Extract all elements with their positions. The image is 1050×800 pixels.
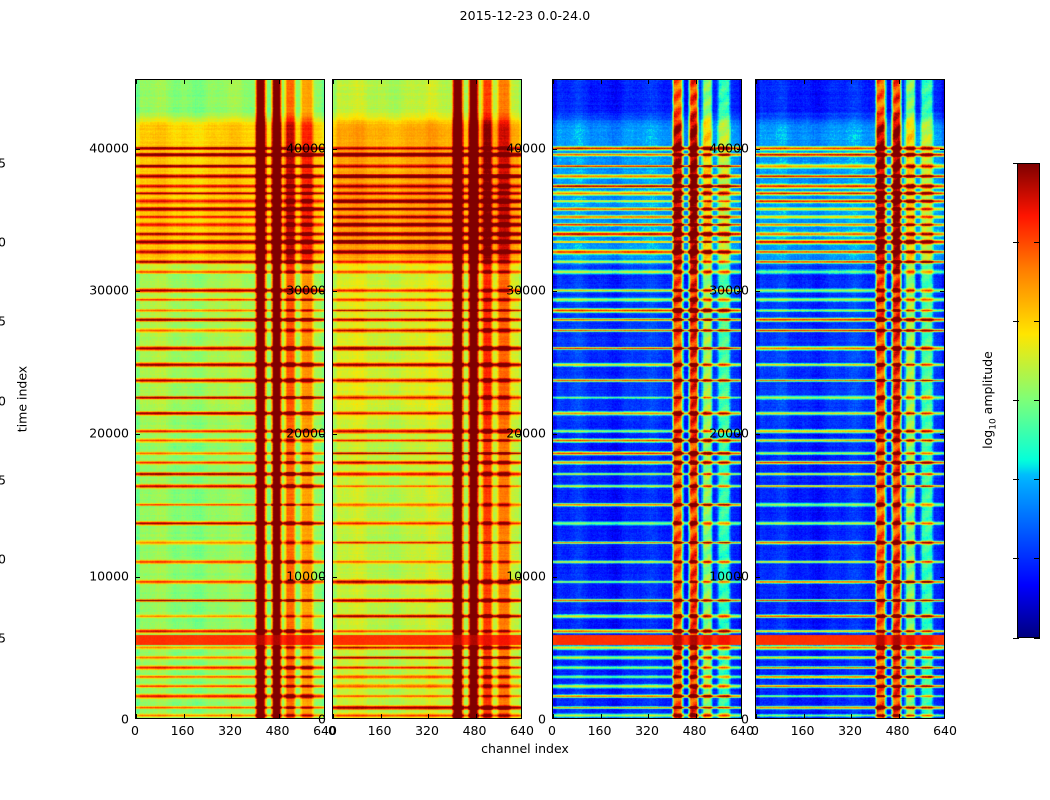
x-axis-tick-label: 480 [886,723,910,738]
y-axis-tick [333,434,337,435]
x-axis-tick-label: 320 [635,723,659,738]
waterfall-panel-xx[interactable]: XX, ant V8 [135,79,325,719]
y-axis-tick-label: 10000 [693,569,749,584]
x-axis-tick [231,80,232,84]
y-axis-tick [553,577,557,578]
x-axis-tick [279,80,280,84]
x-axis-tick [851,714,852,718]
x-axis-tick [476,714,477,718]
heatmap-image [136,80,325,719]
y-axis-tick-label: 10000 [73,569,129,584]
y-axis-tick-label: 0 [693,712,749,727]
colorbar-tick-label: −2.5 [0,631,6,646]
colorbar-tick [1034,163,1040,164]
y-axis-tick [553,291,557,292]
x-axis-tick [381,714,382,718]
y-axis-tick [553,434,557,435]
heatmap-image [553,80,742,719]
y-axis-tick-label: 30000 [73,283,129,298]
colorbar-tick-label: 0.0 [0,235,6,250]
x-axis-tick-label: 640 [933,723,957,738]
x-axis-label: channel index [0,741,1050,756]
y-axis-tick-label: 0 [490,712,546,727]
x-axis-tick [648,714,649,718]
colorbar-tick [1013,479,1019,480]
y-axis-tick-label: 0 [270,712,326,727]
x-axis-tick-label: 0 [131,723,139,738]
x-axis-tick [851,80,852,84]
heatmap-image [756,80,945,719]
colorbar-tick-label: −0.5 [0,314,6,329]
x-axis-tick [136,80,137,84]
y-axis-tick [756,434,760,435]
x-axis-tick [601,80,602,84]
y-axis-tick [136,149,140,150]
y-axis-tick [333,291,337,292]
y-axis-tick [940,577,944,578]
y-axis-tick [136,291,140,292]
colorbar-tick [1034,638,1040,639]
x-axis-tick [231,714,232,718]
y-axis-tick-label: 10000 [270,569,326,584]
x-axis-tick [696,80,697,84]
x-axis-tick [184,80,185,84]
x-axis-tick [756,80,757,84]
x-axis-tick [333,80,334,84]
colorbar-tick [1034,321,1040,322]
colorbar-tick [1013,558,1019,559]
y-axis-tick-label: 40000 [270,140,326,155]
x-axis-tick-label: 160 [368,723,392,738]
x-axis-tick-label: 320 [218,723,242,738]
colorbar-tick-label: 0.5 [0,156,6,171]
colorbar-tick-label: −1.0 [0,393,6,408]
y-axis-tick [756,149,760,150]
figure-suptitle: 2015-12-23 0.0-24.0 [0,8,1050,23]
y-axis-tick [940,149,944,150]
y-axis-tick [756,577,760,578]
y-axis-tick-label: 40000 [693,140,749,155]
y-axis-tick-label: 0 [73,712,129,727]
x-axis-tick [428,714,429,718]
colorbar-tick [1034,400,1040,401]
x-axis-tick [601,714,602,718]
colorbar-tick [1013,321,1019,322]
colorbar-tick-label: −2.0 [0,551,6,566]
x-axis-tick-label: 320 [415,723,439,738]
x-axis-tick [804,714,805,718]
x-axis-tick-label: 0 [328,723,336,738]
y-axis-tick [756,291,760,292]
x-axis-tick [553,80,554,84]
y-axis-tick-label: 30000 [693,283,749,298]
colorbar-tick [1034,558,1040,559]
y-axis-tick [333,149,337,150]
x-axis-tick [899,80,900,84]
x-axis-tick-label: 160 [791,723,815,738]
x-axis-tick-label: 0 [751,723,759,738]
y-axis-tick-label: 20000 [490,426,546,441]
colorbar-tick [1034,242,1040,243]
colorbar-tick [1013,400,1019,401]
colorbar-tick [1034,479,1040,480]
x-axis-tick [899,714,900,718]
x-axis-tick [756,714,757,718]
waterfall-panel-xy[interactable]: XY, ant V8 [552,79,742,719]
matplotlib-figure: 2015-12-23 0.0-24.0 XX, ant V8YY, ant V8… [0,0,1050,800]
x-axis-tick-label: 0 [548,723,556,738]
y-axis-label: time index [15,366,30,432]
x-axis-tick [333,714,334,718]
x-axis-tick-label: 320 [838,723,862,738]
y-axis-tick-label: 40000 [490,140,546,155]
x-axis-tick [476,80,477,84]
colorbar-label: log10 amplitude [980,351,999,449]
heatmap-image [333,80,522,719]
x-axis-tick [553,714,554,718]
waterfall-panel-yy[interactable]: YY, ant V8 [332,79,522,719]
colorbar-tick [1013,163,1019,164]
y-axis-tick-label: 10000 [490,569,546,584]
x-axis-tick [184,714,185,718]
x-axis-tick-label: 480 [463,723,487,738]
y-axis-tick [553,149,557,150]
y-axis-tick [136,434,140,435]
y-axis-tick-label: 40000 [73,140,129,155]
y-axis-tick [333,577,337,578]
x-axis-tick-label: 160 [171,723,195,738]
x-axis-tick [804,80,805,84]
waterfall-panel-yx[interactable]: YX, ant V8 [755,79,945,719]
y-axis-tick-label: 20000 [73,426,129,441]
x-axis-tick [648,80,649,84]
y-axis-tick-label: 20000 [270,426,326,441]
x-axis-tick [381,80,382,84]
y-axis-tick-label: 30000 [270,283,326,298]
colorbar-tick-label: −1.5 [0,472,6,487]
y-axis-tick-label: 20000 [693,426,749,441]
y-axis-tick-label: 30000 [490,283,546,298]
colorbar-tick [1013,242,1019,243]
y-axis-tick [940,291,944,292]
x-axis-tick-label: 160 [588,723,612,738]
y-axis-tick [136,577,140,578]
x-axis-tick [136,714,137,718]
colorbar-tick [1013,638,1019,639]
y-axis-tick [940,434,944,435]
x-axis-tick [428,80,429,84]
